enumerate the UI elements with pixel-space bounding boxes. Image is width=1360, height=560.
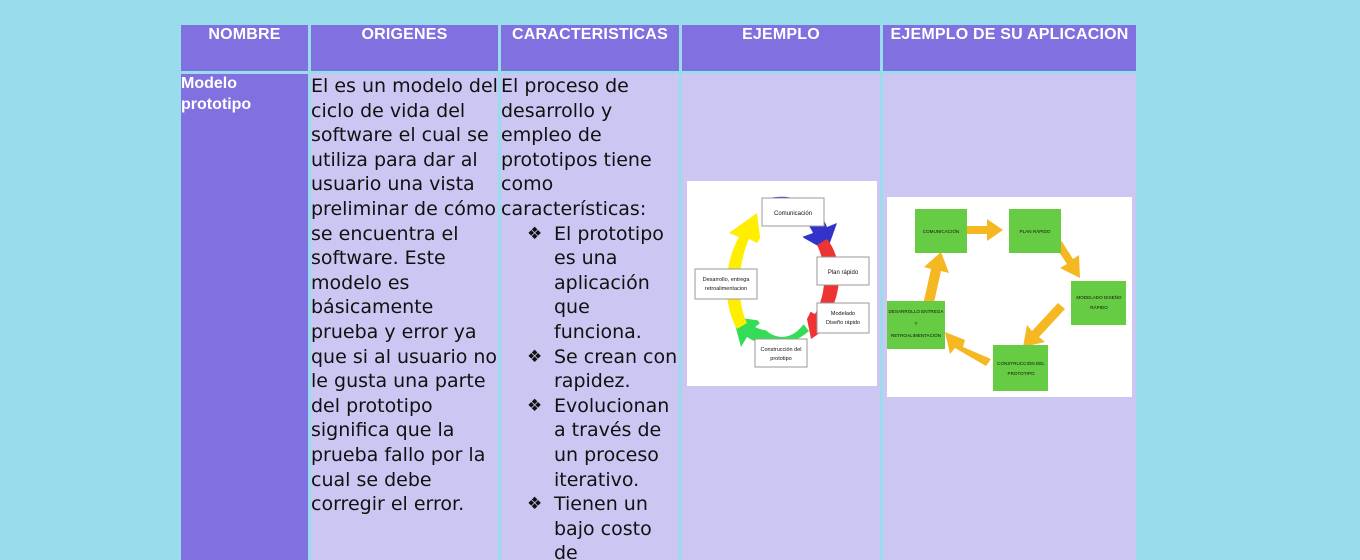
cell-ejemplo: Comunicación Plan rápido Modelado: [682, 74, 880, 560]
cell-origenes: El es un modelo del ciclo de vida del so…: [311, 74, 498, 560]
cell-nombre: Modelo prototipo: [181, 74, 308, 560]
box-construccion-prototipo: CONSTRUCCIÓN DEL PROTOTIPO: [993, 345, 1048, 391]
svg-text:Comunicación: Comunicación: [774, 211, 812, 217]
svg-text:CONSTRUCCIÓN DEL: CONSTRUCCIÓN DEL: [997, 360, 1045, 366]
table-row: Modelo prototipo El es un modelo del cic…: [181, 74, 1136, 560]
diamond-bullet-icon: ❖: [527, 222, 542, 247]
list-item: ❖ El prototipo es una aplicación que fun…: [527, 222, 679, 345]
column-header-ejemplo: EJEMPLO: [682, 25, 880, 71]
prototype-flow-svg: COMUNICACIÓN PLAN RÁPIDO MODELADO DISEÑO: [887, 197, 1132, 397]
svg-text:Desarrollo, entrega: Desarrollo, entrega: [703, 277, 751, 283]
list-item: ❖ Se crean con rapidez.: [527, 345, 679, 394]
diamond-bullet-icon: ❖: [527, 345, 542, 370]
label-desarrollo-entrega: Desarrollo, entrega retroalimentacion: [695, 269, 757, 299]
label-construccion-prototipo: Construcción del prototipo: [755, 339, 807, 367]
prototype-flow-diagram: COMUNICACIÓN PLAN RÁPIDO MODELADO DISEÑO: [887, 197, 1132, 397]
box-modelado-diseno-rapido: MODELADO DISEÑO RÁPIDO: [1071, 281, 1126, 325]
box-comunicacion: COMUNICACIÓN: [915, 209, 967, 253]
box-plan-rapido: PLAN RÁPIDO: [1009, 209, 1061, 253]
svg-text:retroalimentacion: retroalimentacion: [705, 286, 747, 292]
svg-text:PLAN RÁPIDO: PLAN RÁPIDO: [1020, 228, 1051, 234]
svg-text:MODELADO DISEÑO: MODELADO DISEÑO: [1076, 294, 1122, 300]
svg-text:Plan rápido: Plan rápido: [828, 270, 859, 276]
diamond-bullet-icon: ❖: [527, 492, 542, 517]
column-header-origenes: ORIGENES: [311, 25, 498, 71]
svg-text:Modelado: Modelado: [831, 311, 855, 317]
svg-text:Construcción del: Construcción del: [761, 347, 802, 353]
table-header-row: NOMBRE ORIGENES CARACTERISTICAS EJEMPLO …: [181, 25, 1136, 71]
list-item: ❖ Tienen un bajo costo de: [527, 492, 679, 560]
svg-text:prototipo: prototipo: [770, 356, 791, 362]
box-desarrollo-entrega-retroalimentacion: DESARROLLO ENTREGA Y RETROALIMENTACIÓN: [887, 301, 945, 349]
svg-text:DESARROLLO ENTREGA: DESARROLLO ENTREGA: [889, 309, 945, 314]
figure-ejemplo-holder: Comunicación Plan rápido Modelado: [682, 74, 880, 554]
column-header-caracteristicas: CARACTERISTICAS: [501, 25, 679, 71]
caracteristicas-list: ❖ El prototipo es una aplicación que fun…: [527, 222, 679, 560]
caracteristicas-intro: El proceso de desarrollo y empleo de pro…: [501, 74, 679, 222]
column-header-ejemplo-aplicacion: EJEMPLO DE SU APLICACION: [883, 25, 1136, 71]
list-item-label: Se crean con rapidez.: [554, 346, 677, 393]
figure-aplicacion-holder: COMUNICACIÓN PLAN RÁPIDO MODELADO DISEÑO: [883, 74, 1136, 554]
list-item-label: Evolucionan a través de un proceso itera…: [554, 395, 669, 491]
label-plan-rapido: Plan rápido: [817, 257, 869, 285]
diamond-bullet-icon: ❖: [527, 394, 542, 419]
comparison-table: NOMBRE ORIGENES CARACTERISTICAS EJEMPLO …: [178, 22, 1139, 560]
label-modelado-diseno-rapido: Modelado Diseño rápido: [817, 303, 869, 333]
column-header-nombre: NOMBRE: [181, 25, 308, 71]
cell-caracteristicas: El proceso de desarrollo y empleo de pro…: [501, 74, 679, 560]
svg-text:PROTOTIPO: PROTOTIPO: [1008, 371, 1035, 376]
prototype-cycle-diagram: Comunicación Plan rápido Modelado: [687, 181, 877, 386]
list-item-label: El prototipo es una aplicación que funci…: [554, 223, 664, 343]
list-item: ❖ Evolucionan a través de un proceso ite…: [527, 394, 679, 492]
svg-text:Diseño rápido: Diseño rápido: [826, 320, 860, 326]
svg-text:Y: Y: [914, 321, 917, 326]
svg-text:COMUNICACIÓN: COMUNICACIÓN: [923, 228, 960, 234]
list-item-label: Tienen un bajo costo de: [554, 493, 652, 560]
prototype-cycle-svg: Comunicación Plan rápido Modelado: [687, 181, 877, 386]
label-comunicacion: Comunicación: [762, 198, 824, 226]
svg-text:RÁPIDO: RÁPIDO: [1090, 304, 1108, 310]
comparison-table-wrapper: NOMBRE ORIGENES CARACTERISTICAS EJEMPLO …: [178, 22, 1127, 560]
cell-ejemplo-aplicacion: COMUNICACIÓN PLAN RÁPIDO MODELADO DISEÑO: [883, 74, 1136, 560]
svg-text:RETROALIMENTACIÓN: RETROALIMENTACIÓN: [891, 332, 941, 338]
document-page: NOMBRE ORIGENES CARACTERISTICAS EJEMPLO …: [0, 0, 1360, 560]
